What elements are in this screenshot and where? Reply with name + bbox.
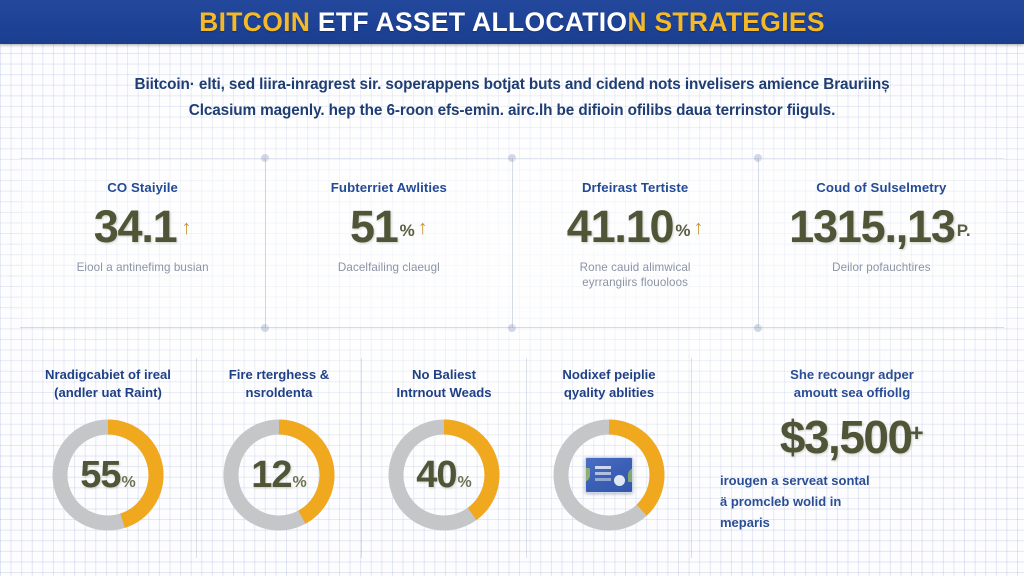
donut-card-fire-rterghess: Fire rterghess & nsroldenta 12 % xyxy=(197,358,362,558)
donut-chart-row: Nradigcabiet of ireal (andler uat Raint)… xyxy=(20,358,1004,558)
stat-card-subtext-line-2: eyrrangiirs flouoloos xyxy=(523,275,748,290)
donut-chart: 55 % xyxy=(49,416,167,534)
donut-card-title-line-2: qyality ablities xyxy=(531,384,687,402)
donut-card-title-line-1: No Baliest xyxy=(366,366,522,384)
donut-value: 12 xyxy=(251,456,291,494)
page-title-white: ETF ASSET ALLOCATIO xyxy=(310,7,627,37)
stat-card-fubterriet-awlities: Fubterriet Awlities 51 % ↑ Dacelfailing … xyxy=(266,158,512,328)
donut-center-label xyxy=(550,416,668,534)
intro-paragraph: Biitcoin· elti, sed liira-inragrest sir.… xyxy=(46,72,978,124)
page-title: BITCOIN ETF ASSET ALLOCATION STRATEGIES xyxy=(199,7,825,38)
stat-card-drfeirast-tertiste: Drfeirast Tertiste 41.10 % ↑ Rone cauid … xyxy=(513,158,759,328)
intro-line-1: Biitcoin· elti, sed liira-inragrest sir.… xyxy=(46,72,978,98)
stat-card-subtext-line-1: Rone cauid alimwical xyxy=(523,260,748,275)
donut-card-title: Fire rterghess & nsroldenta xyxy=(197,366,361,406)
stat-card-suffix: % xyxy=(400,221,415,241)
donut-percent-symbol: % xyxy=(293,474,307,492)
stat-card-subtext: Deilor pofauchtires xyxy=(769,260,994,275)
intro-line-2: Clcasium magenly. hep the 6-roon efs-emi… xyxy=(46,98,978,124)
trend-up-arrow-icon: ↑ xyxy=(694,217,704,240)
donut-chart xyxy=(550,416,668,534)
donut-card-title-line-1: Fire rterghess & xyxy=(201,366,357,384)
stat-card-subtext-line-1: Deilor pofauchtires xyxy=(769,260,994,275)
leaf-left-icon xyxy=(585,468,590,482)
stat-card-header: Drfeirast Tertiste xyxy=(523,180,748,195)
stat-card-subtext-line-1: Dacelfailing claeugl xyxy=(276,260,501,275)
donut-card-nodixef-peiplie: Nodixef peiplie qyality ablities xyxy=(527,358,692,558)
donut-percent-symbol: % xyxy=(458,474,472,492)
stat-card-value: 51 xyxy=(350,204,398,249)
highlight-caption-line-2: amoutt sea offiollg xyxy=(714,384,990,402)
donut-card-title: Nradigcabiet of ireal (andler uat Raint) xyxy=(20,366,196,406)
page-title-gold-start: BITCOIN xyxy=(199,7,310,37)
infographic-poster: BITCOIN ETF ASSET ALLOCATION STRATEGIES … xyxy=(0,0,1024,576)
stat-card-value: 1315.,13 xyxy=(789,204,955,249)
donut-percent-symbol: % xyxy=(122,474,136,492)
header-band: BITCOIN ETF ASSET ALLOCATION STRATEGIES xyxy=(0,0,1024,44)
stat-card-header: Coud of Sulselmetry xyxy=(769,180,994,195)
stat-card-subtext: Rone cauid alimwical eyrrangiirs flouolo… xyxy=(523,260,748,290)
donut-card-title: Nodixef peiplie qyality ablities xyxy=(527,366,691,406)
donut-card-title-line-1: Nodixef peiplie xyxy=(531,366,687,384)
donut-card-nradigcabiet: Nradigcabiet of ireal (andler uat Raint)… xyxy=(20,358,197,558)
donut-chart: 40 % xyxy=(385,416,503,534)
donut-card-title-line-2: Intrnout Weads xyxy=(366,384,522,402)
stat-card-value-row: 1315.,13 P. xyxy=(769,204,994,249)
highlight-note: irougen a serveat sontal ä promcleb woli… xyxy=(714,470,990,533)
highlight-amount-plus: + xyxy=(910,420,923,447)
stat-card-subtext-line-1: Eiool a antinefimg busian xyxy=(30,260,255,275)
donut-card-no-baliest: No Baliest Intrnout Weads 40 % xyxy=(362,358,527,558)
highlight-note-line-1: irougen a serveat sontal xyxy=(720,470,990,491)
donut-chart: 12 % xyxy=(220,416,338,534)
donut-card-title-line-1: Nradigcabiet of ireal xyxy=(24,366,192,384)
stat-card-co-staiyile: CO Staiyile 34.1 ↑ Eiool a antinefimg bu… xyxy=(20,158,266,328)
stat-card-subtext: Eiool a antinefimg busian xyxy=(30,260,255,275)
stat-card-coud-of-sulselmetry: Coud of Sulselmetry 1315.,13 P. Deilor p… xyxy=(759,158,1004,328)
stat-card-header: Fubterriet Awlities xyxy=(276,180,501,195)
document-card-icon xyxy=(585,457,633,493)
trend-up-arrow-icon: ↑ xyxy=(418,217,428,240)
stat-card-header: CO Staiyile xyxy=(30,180,255,195)
donut-card-title-line-2: nsroldenta xyxy=(201,384,357,402)
highlight-note-line-2: ä promcleb wolid in xyxy=(720,491,990,512)
donut-value: 40 xyxy=(416,456,456,494)
trend-up-arrow-icon: ↑ xyxy=(182,217,192,240)
donut-center-label: 55 % xyxy=(49,416,167,534)
highlight-caption-line-1: She recoungr adper xyxy=(714,366,990,384)
stat-card-suffix: % xyxy=(675,221,690,241)
highlight-caption: She recoungr adper amoutt sea offiollg xyxy=(714,366,990,402)
highlight-amount: $3,500+ xyxy=(714,414,990,460)
donut-center-label: 12 % xyxy=(220,416,338,534)
leaf-right-icon xyxy=(628,468,633,482)
highlight-note-line-3: meparis xyxy=(720,512,990,533)
stat-card-row: CO Staiyile 34.1 ↑ Eiool a antinefimg bu… xyxy=(20,158,1004,328)
donut-value: 55 xyxy=(80,456,120,494)
donut-card-title-line-2: (andler uat Raint) xyxy=(24,384,192,402)
stat-card-value-row: 51 % ↑ xyxy=(276,204,501,249)
stat-card-value: 34.1 xyxy=(94,204,177,249)
highlight-amount-value: $3,500 xyxy=(780,411,912,463)
stat-card-subtext: Dacelfailing claeugl xyxy=(276,260,501,275)
page-title-gold-end: N STRATEGIES xyxy=(627,7,824,37)
stat-card-value-row: 41.10 % ↑ xyxy=(523,204,748,249)
stat-card-value-row: 34.1 ↑ xyxy=(30,204,255,249)
stat-card-value: 41.10 xyxy=(567,204,674,249)
donut-card-title: No Baliest Intrnout Weads xyxy=(362,366,526,406)
donut-center-label: 40 % xyxy=(385,416,503,534)
stat-card-suffix: P. xyxy=(957,221,971,241)
highlight-amount-block: She recoungr adper amoutt sea offiollg $… xyxy=(692,358,1004,558)
